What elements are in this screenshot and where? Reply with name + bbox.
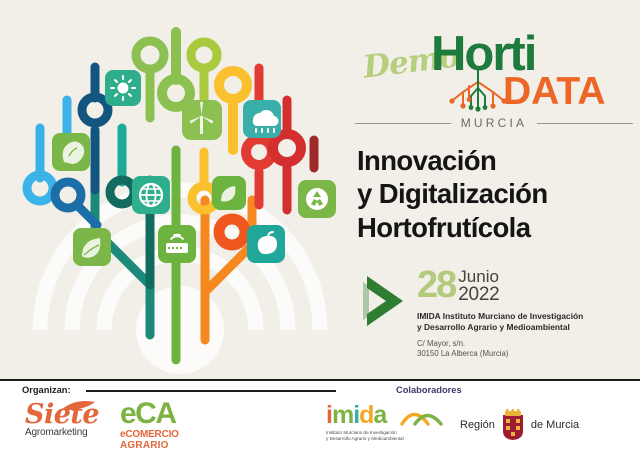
logo-ecomercio-agrario: eCA eCOMERCIO AGRARIO: [120, 399, 216, 449]
play-chevron-icon: [363, 274, 407, 328]
eca-line-1: eCOMERCIO: [120, 429, 216, 440]
tile-recycle: [298, 180, 336, 218]
region-text-after: de Murcia: [531, 419, 579, 431]
logo-region-de-murcia: Región de Murcia: [460, 405, 590, 445]
tile-sprout: [212, 176, 246, 210]
divider-right: [537, 123, 633, 124]
event-address: C/ Mayor, s/n. 30150 La Alberca (Murcia): [417, 339, 633, 359]
logo-siete-agromarketing: Siete Agromarketing: [25, 401, 117, 447]
footer: Organizan: Siete Agromarketing eCA eCOME…: [0, 381, 640, 452]
region-text-before: Región: [460, 419, 495, 431]
address-line-1: C/ Mayor, s/n.: [417, 339, 465, 348]
logo-imida: imida Instituto Murciano de Investigació…: [326, 403, 446, 445]
eca-mark: eCA: [120, 399, 216, 429]
collaborators-label: Colaboradores: [396, 385, 462, 395]
event-details: 28 Junio 2022 IMIDA Instituto Murciano d…: [355, 268, 633, 360]
event-venue: IMIDA Instituto Murciano de Investigació…: [417, 311, 587, 333]
leaf-swoosh-icon: [59, 399, 99, 413]
headline-line-3: Hortofrutícola: [357, 212, 530, 243]
tile-brain-leaf: [52, 133, 90, 171]
location-band: MURCIA: [355, 116, 633, 130]
right-column: Demo Horti: [355, 18, 633, 360]
tile-router: [158, 225, 196, 263]
poster-canvas: Demo Horti: [0, 0, 640, 452]
tile-sun: [105, 70, 141, 106]
imida-tagline-line-2: y Desarrollo Agrario y Medioambiental: [326, 436, 404, 441]
eca-line-2: AGRARIO: [120, 440, 216, 451]
tile-leaf: [73, 228, 111, 266]
page-title: Innovación y Digitalización Hortofrutíco…: [357, 144, 633, 244]
logo-data-text: DATA: [503, 70, 606, 114]
event-year: 2022: [458, 285, 499, 304]
location-label: MURCIA: [461, 116, 528, 130]
divider-left: [355, 123, 451, 124]
tile-wind: [182, 100, 222, 140]
imida-arc-icon: [399, 404, 445, 426]
event-month: Junio: [458, 268, 499, 285]
circuit-tree-illustration: [0, 0, 348, 380]
imida-tagline: Instituto Murciano de Investigación y De…: [326, 430, 446, 442]
headline-line-1: Innovación: [357, 145, 496, 176]
tile-cloud-rain: [243, 100, 281, 138]
event-date: 28 Junio 2022: [417, 268, 633, 304]
circuit-tree-icon: [447, 62, 509, 114]
event-day: 28: [417, 268, 455, 303]
tile-pepper: [247, 225, 285, 263]
murcia-coat-of-arms-icon: [500, 409, 526, 441]
event-logo: Demo Horti: [355, 18, 633, 110]
organizers-rule: [86, 390, 336, 392]
tile-globe: [132, 176, 170, 214]
imida-tagline-line-1: Instituto Murciano de Investigación: [326, 430, 397, 435]
siete-subtitle: Agromarketing: [25, 427, 117, 438]
address-line-2: 30150 La Alberca (Murcia): [417, 349, 508, 358]
organizers-label: Organizan:: [22, 385, 71, 395]
headline-line-2: y Digitalización: [357, 178, 548, 209]
